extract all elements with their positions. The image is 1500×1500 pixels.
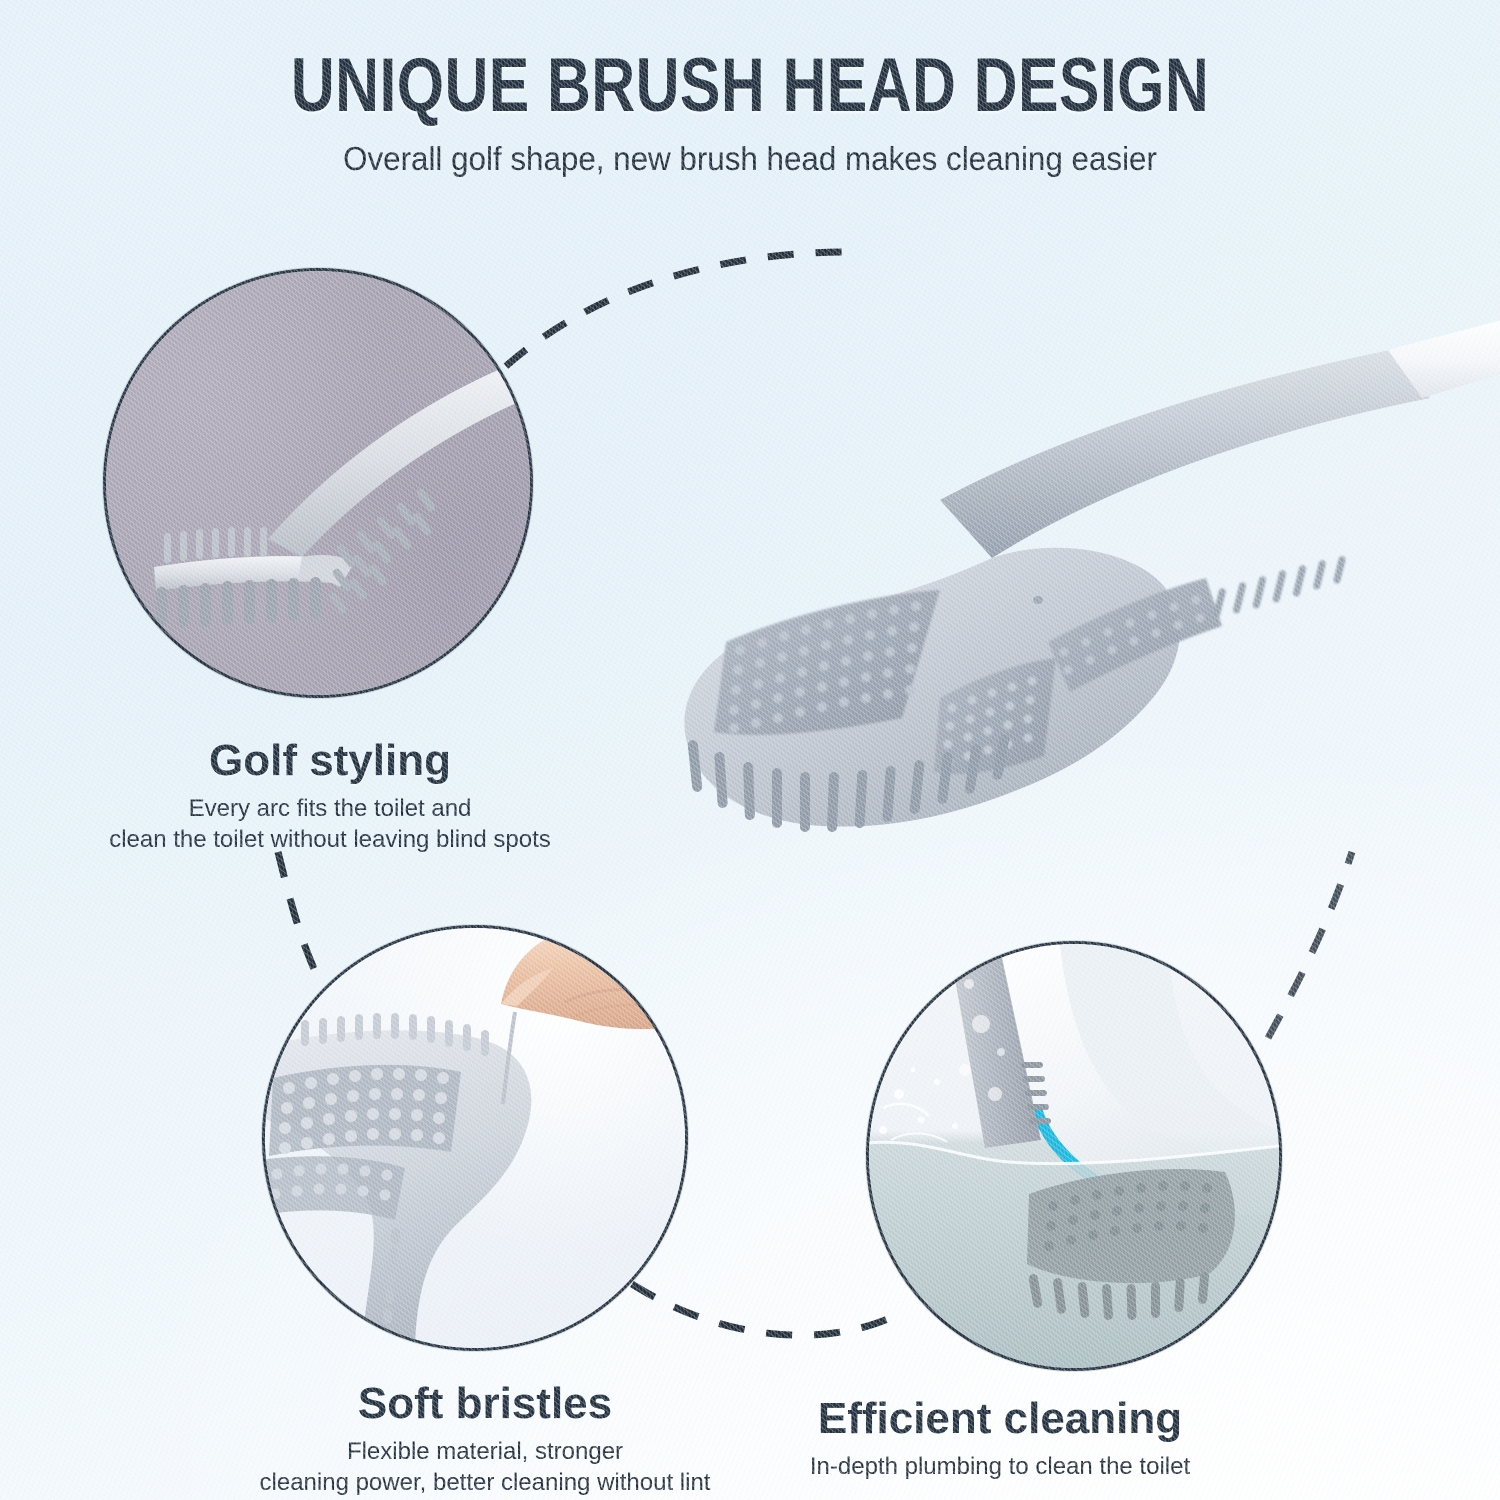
caption-efficient-cleaning: Efficient cleaning In-depth plumbing to … [700, 1393, 1300, 1482]
hang-hole [1033, 596, 1043, 604]
inset-efficient-cleaning [866, 941, 1282, 1371]
bristles-nub-field-secondary [265, 1156, 405, 1220]
caption-line-1: Every arc fits the toilet and [60, 793, 600, 824]
brush-handle-shaft [940, 348, 1430, 558]
inset-soft-bristles [262, 925, 688, 1351]
inset-golf-styling [103, 268, 533, 698]
bristles-nub-field [269, 1065, 461, 1156]
water-splash [879, 1068, 958, 1143]
caption-headline: Efficient cleaning [700, 1393, 1300, 1445]
efficient-cleaning-photo [869, 944, 1279, 1368]
caption-line-1: In-depth plumbing to clean the toilet [700, 1451, 1300, 1482]
golf-handle [268, 357, 530, 557]
page-title: UNIQUE BRUSH HEAD DESIGN [150, 44, 1350, 128]
hand-pinching [501, 928, 685, 1029]
caption-headline: Soft bristles [215, 1378, 755, 1430]
caption-line-1: Flexible material, stronger [215, 1436, 755, 1467]
caption-line-2: clean the toilet without leaving blind s… [60, 824, 600, 855]
hero-brush-svg [640, 270, 1500, 890]
caption-line-2: cleaning power, better cleaning without … [215, 1467, 755, 1498]
hero-product-image [640, 270, 1500, 890]
golf-styling-photo [106, 271, 530, 695]
page-subtitle: Overall golf shape, new brush head makes… [38, 138, 1463, 180]
soft-bristles-photo [265, 928, 685, 1348]
submerged-brush-head [1027, 1169, 1235, 1320]
caption-headline: Golf styling [60, 735, 600, 787]
caption-soft-bristles: Soft bristles Flexible material, stronge… [215, 1378, 755, 1498]
infographic-page: UNIQUE BRUSH HEAD DESIGN Overall golf sh… [0, 0, 1500, 1500]
caption-golf-styling: Golf styling Every arc fits the toilet a… [60, 735, 600, 855]
